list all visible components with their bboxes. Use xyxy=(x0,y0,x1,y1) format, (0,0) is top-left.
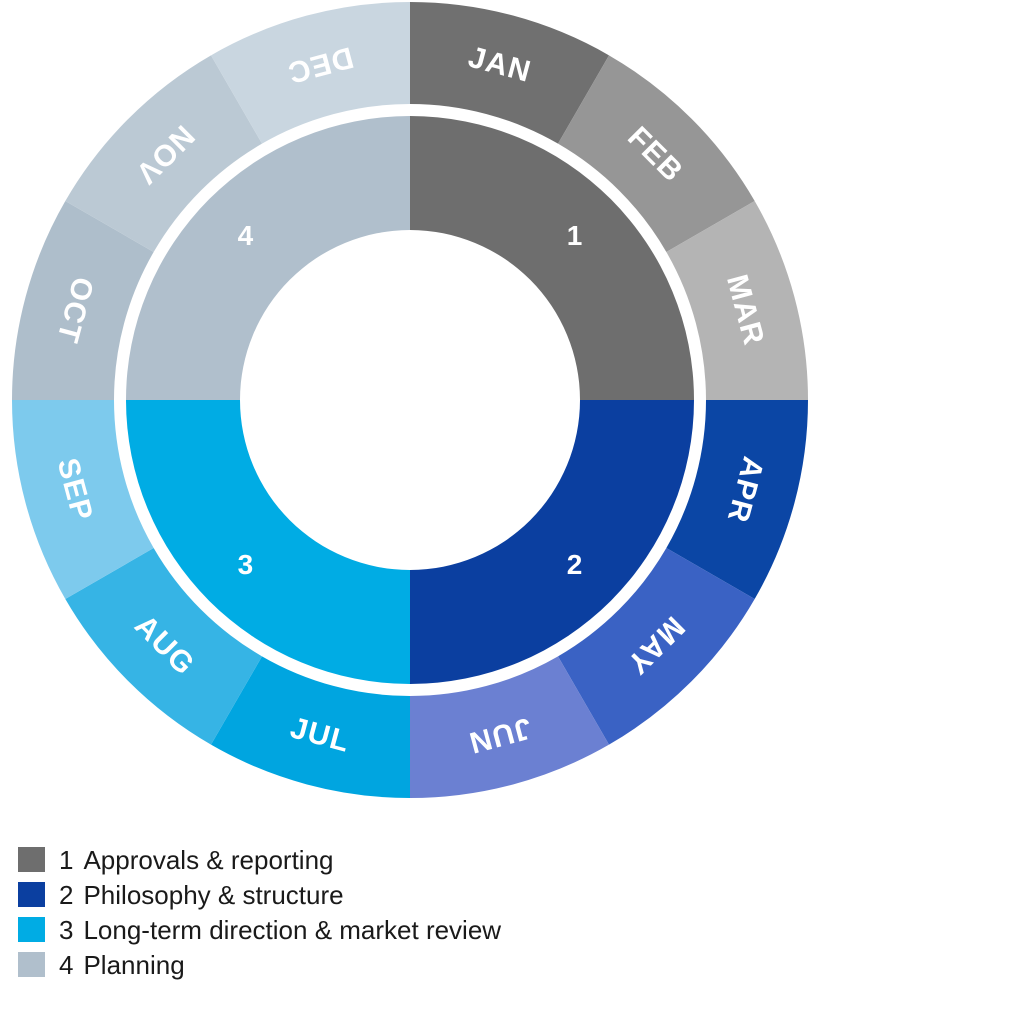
legend-swatch-icon-1 xyxy=(18,847,45,872)
legend-number: 2 xyxy=(59,882,73,908)
quarter-label-2: 2 xyxy=(567,549,583,580)
legend-item-3[interactable]: 3Long-term direction & market review xyxy=(18,912,978,947)
legend-swatch-icon-3 xyxy=(18,917,45,942)
legend-swatch-icon-2 xyxy=(18,882,45,907)
quarter-label-3: 3 xyxy=(238,549,254,580)
legend-number: 4 xyxy=(59,952,73,978)
quarter-ring xyxy=(126,116,694,684)
legend-label: Philosophy & structure xyxy=(83,882,343,908)
legend-item-1[interactable]: 1Approvals & reporting xyxy=(18,842,978,877)
legend-item-4[interactable]: 4Planning xyxy=(18,947,978,982)
legend-label: Long-term direction & market review xyxy=(83,917,501,943)
legend-number: 1 xyxy=(59,847,73,873)
quarterly-cycle-wheel: JANFEBMARAPRMAYJUNJULAUGSEPOCTNOVDEC 123… xyxy=(0,0,1016,816)
legend-number: 3 xyxy=(59,917,73,943)
legend-swatch-icon-4 xyxy=(18,952,45,977)
wheel-chart: JANFEBMARAPRMAYJUNJULAUGSEPOCTNOVDEC 123… xyxy=(0,0,1016,816)
legend-label: Approvals & reporting xyxy=(83,847,333,873)
legend-label: Planning xyxy=(83,952,184,978)
quarter-label-1: 1 xyxy=(567,220,583,251)
legend: 1Approvals & reporting2Philosophy & stru… xyxy=(18,842,978,982)
quarter-label-4: 4 xyxy=(238,220,254,251)
legend-item-2[interactable]: 2Philosophy & structure xyxy=(18,877,978,912)
